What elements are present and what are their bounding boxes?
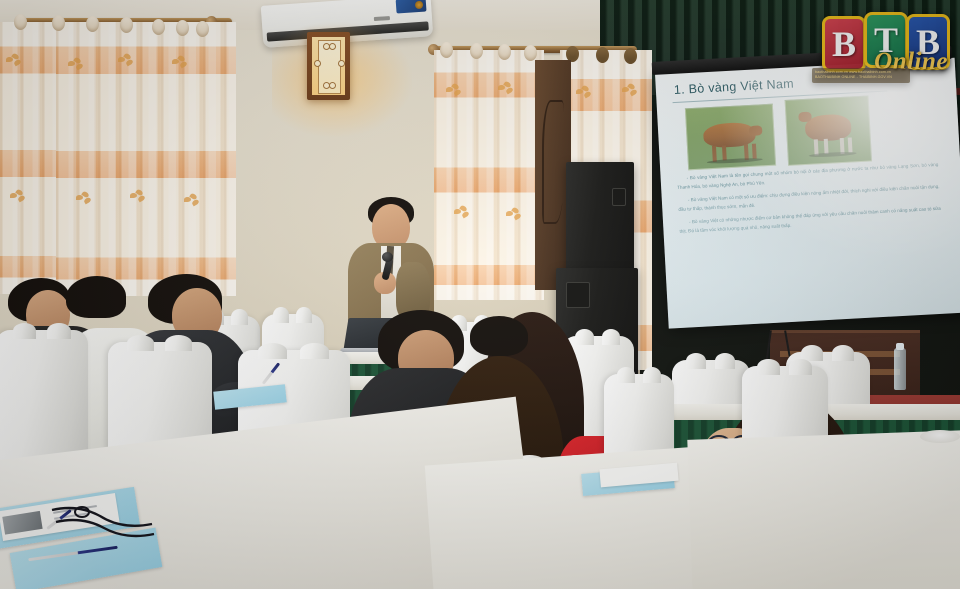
ac-display [374, 16, 390, 21]
chair-left-1[interactable] [0, 330, 88, 470]
microphone-head [382, 252, 393, 262]
curtain-right-a [434, 50, 544, 300]
logo-url-block: baothaibinh.com.vn www.baothaibinh.com.v… [812, 68, 910, 83]
saucer [920, 430, 960, 443]
curtain-left-a [0, 22, 62, 294]
curtain-left-b [56, 22, 236, 296]
slide-image-1 [685, 104, 776, 171]
pa-speaker-top [566, 162, 634, 272]
slide-title: 1. Bò vàng Việt Nam [674, 77, 795, 97]
ac-brand-badge [396, 0, 427, 14]
bottle-cap [896, 343, 904, 350]
conference-photo: 1. Bò vàng Việt Nam - Bò vàng Việt Nam l… [0, 0, 960, 589]
slide-image-2 [785, 95, 872, 165]
btb-online-logo: B T B Online baothaibinh.com.vn www.baot… [822, 12, 950, 72]
slide-body-text: - Bò vàng Việt Nam là tên gọi chung một … [676, 161, 941, 241]
water-bottle[interactable] [894, 348, 906, 390]
projection-screen: 1. Bò vàng Việt Nam - Bò vàng Việt Nam l… [655, 58, 960, 329]
logo-url-2: BAOTHAIBINH ONLINE - THAIBINH.GOV.VN [815, 75, 907, 80]
eyeglasses-on-table-icon [48, 500, 158, 542]
wall-lamp [307, 32, 350, 100]
logo-tile-b1: B [822, 16, 866, 72]
door-grille-icon [542, 100, 564, 224]
far-table [687, 430, 960, 589]
